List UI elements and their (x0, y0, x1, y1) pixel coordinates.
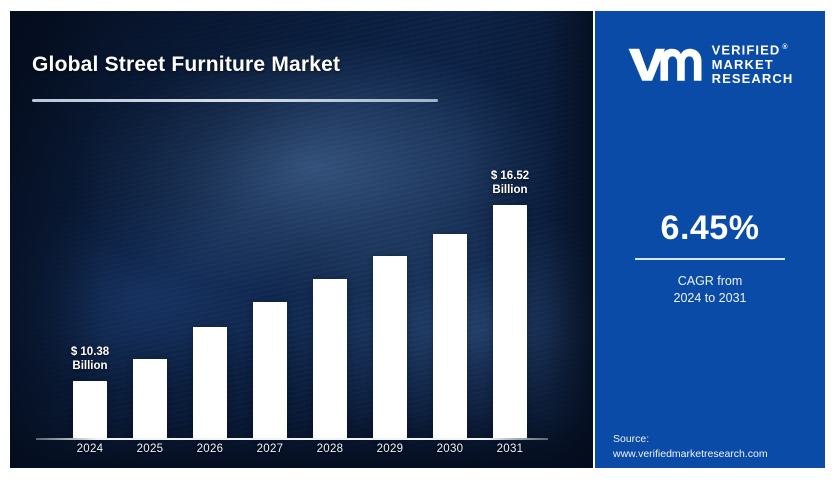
page-title: Global Street Furniture Market (32, 53, 340, 77)
bar-rect-2030 (433, 234, 467, 438)
chart-panel: Global Street Furniture Market $ 10.38Bi… (10, 11, 593, 468)
bar-rect-2026 (193, 327, 227, 438)
bar-rect-2031 (493, 205, 527, 438)
source-note: Source: www.verifiedmarketresearch.com (613, 432, 818, 461)
brand-name-line1: VERIFIED (712, 42, 781, 57)
cagr-block: 6.45% CAGR from 2024 to 2031 (595, 209, 825, 307)
title-underline-rule (32, 99, 438, 102)
bar-rect-2024 (73, 381, 107, 438)
x-axis-line (36, 438, 548, 440)
bar-2031: $ 16.52Billion (480, 11, 540, 438)
cagr-divider (635, 258, 785, 260)
x-axis-label-2024: 2024 (60, 443, 120, 455)
brand-logo-text: VERIFIED® MARKET RESEARCH (712, 41, 794, 87)
brand-name-line2: MARKET (712, 58, 794, 73)
bar-value-amount-2031: $ 16.52 (468, 169, 552, 183)
cagr-value: 6.45% (595, 209, 825, 247)
brand-name-line3: RESEARCH (712, 72, 794, 87)
x-axis-label-2030: 2030 (420, 443, 480, 455)
bar-rect-2028 (313, 279, 347, 438)
x-axis-label-2025: 2025 (120, 443, 180, 455)
source-label: Source: (613, 432, 818, 447)
registered-mark-icon: ® (782, 44, 788, 51)
infographic-root: Global Street Furniture Market $ 10.38Bi… (0, 0, 840, 482)
bar-rect-2025 (133, 359, 167, 438)
x-axis-label-2026: 2026 (180, 443, 240, 455)
x-axis-label-2027: 2027 (240, 443, 300, 455)
x-axis-label-2031: 2031 (480, 443, 540, 455)
cagr-caption: CAGR from 2024 to 2031 (595, 273, 825, 307)
bar-chart-plot: $ 10.38Billion$ 16.52Billion 20242025202… (10, 11, 593, 468)
brand-logo: VERIFIED® MARKET RESEARCH (595, 33, 825, 95)
vmr-logo-icon (627, 44, 703, 84)
cagr-caption-line2: 2024 to 2031 (595, 290, 825, 307)
bar-rect-2029 (373, 256, 407, 438)
bar-rect-2027 (253, 302, 287, 438)
cagr-caption-line1: CAGR from (595, 273, 825, 290)
brand-panel: VERIFIED® MARKET RESEARCH 6.45% CAGR fro… (595, 11, 825, 468)
source-url[interactable]: www.verifiedmarketresearch.com (613, 447, 818, 462)
x-axis-label-2028: 2028 (300, 443, 360, 455)
bar-2030 (420, 11, 480, 438)
x-axis-label-2029: 2029 (360, 443, 420, 455)
bar-2029 (360, 11, 420, 438)
x-axis-tick-labels: 20242025202620272028202920302031 (36, 443, 548, 465)
bar-value-label-2031: $ 16.52Billion (468, 169, 552, 197)
bar-value-unit-2031: Billion (468, 183, 552, 197)
